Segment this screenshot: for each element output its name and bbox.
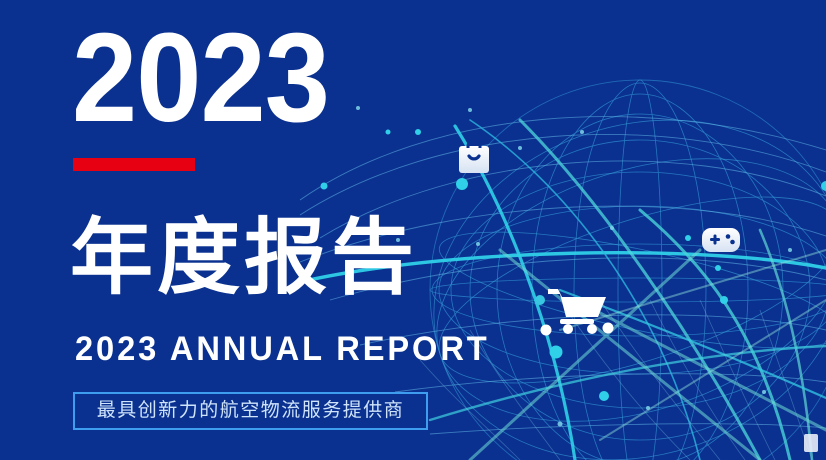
gamepad-icon: [701, 226, 741, 254]
decorative-chip: [804, 434, 818, 452]
shopping-bag-icon: [458, 140, 490, 174]
annual-report-poster: 2023 年度报告 2023 ANNUAL REPORT 最具创新力的航空物流服…: [0, 0, 826, 460]
report-title-english: 2023 ANNUAL REPORT: [75, 330, 490, 368]
headline-block: 2023 年度报告 2023 ANNUAL REPORT 最具创新力的航空物流服…: [0, 0, 470, 460]
year-heading: 2023: [72, 22, 329, 134]
report-title-chinese: 年度报告: [70, 212, 418, 304]
tagline-box: 最具创新力的航空物流服务提供商: [73, 392, 428, 430]
red-accent-bar: [73, 158, 195, 171]
tagline-text: 最具创新力的航空物流服务提供商: [97, 401, 405, 421]
shopping-cart-icon: [546, 286, 608, 334]
